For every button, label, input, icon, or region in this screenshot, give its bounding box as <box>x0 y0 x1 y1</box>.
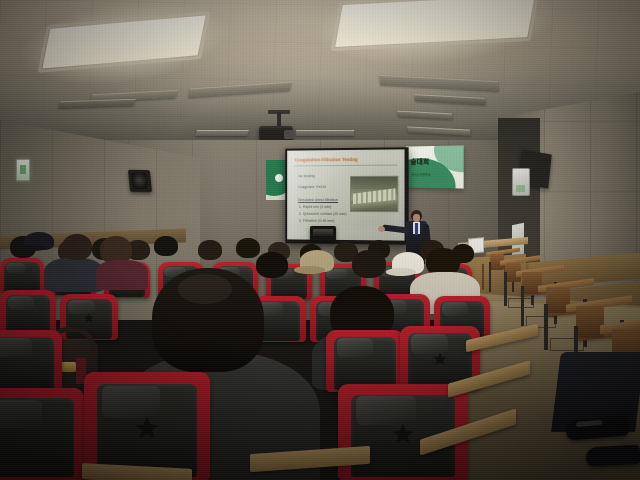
banner-right-text: 술대회 <box>411 157 430 167</box>
hair-highlight <box>178 274 232 304</box>
audience-head <box>352 250 386 278</box>
ceiling-light-fixture-lit <box>335 0 535 47</box>
ceiling-light-fixture-lit <box>42 15 205 68</box>
presenter-tie <box>415 223 418 235</box>
audience-cap-beige <box>300 250 334 272</box>
audience-cap <box>24 232 54 250</box>
podium-monitor <box>310 226 336 241</box>
audience-head <box>154 236 178 256</box>
exit-sign-icon <box>16 159 30 181</box>
audience-head <box>236 238 260 258</box>
audience-hat-white <box>392 252 424 274</box>
lecture-hall-photo: 술대회 한국수자원학회 Coagulation-Filtration Testi… <box>0 0 640 480</box>
auditorium-seat <box>0 258 44 294</box>
ceiling-fixture-unlit <box>195 130 249 136</box>
auditorium-seat <box>326 330 404 392</box>
audience-head <box>256 252 288 278</box>
ceiling-fixture-unlit <box>296 130 354 136</box>
projector-lens <box>284 130 294 139</box>
banner-right-subtext: 한국수자원학회 <box>411 172 430 177</box>
attendee-shoe <box>586 445 640 467</box>
audience-head <box>62 234 92 260</box>
wall-speaker-right <box>512 168 530 196</box>
audience-head <box>198 240 222 260</box>
wall-speaker-left <box>128 170 152 193</box>
banner-right: 술대회 한국수자원학회 <box>406 145 464 188</box>
audience-shoulders <box>44 258 104 292</box>
audience-shoulders <box>96 260 148 290</box>
auditorium-seat <box>0 388 84 480</box>
auditorium-seat <box>0 330 62 392</box>
